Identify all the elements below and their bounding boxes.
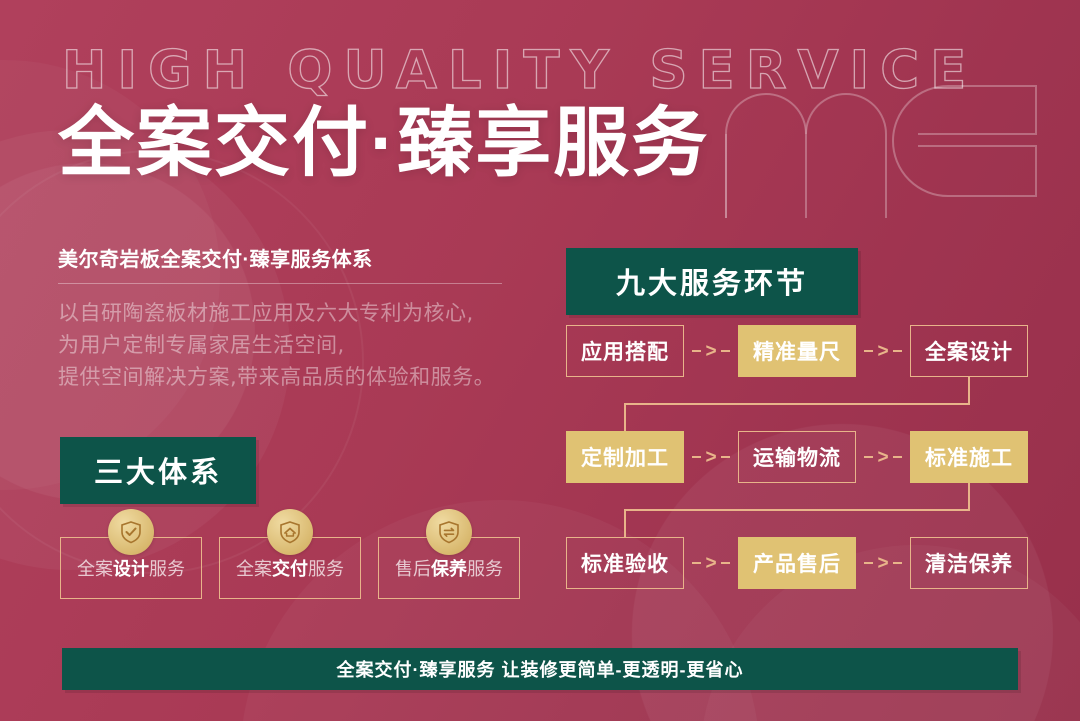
description-line: 以自研陶瓷板材施工应用及六大专利为核心,: [58, 297, 528, 329]
elbow-segment: [624, 403, 970, 405]
flow-connector: >: [684, 342, 738, 361]
flow-connector: >: [684, 448, 738, 467]
badge-suffix: 服务: [149, 559, 185, 580]
shield-home-icon: [267, 509, 313, 555]
badge-strong: 交付: [272, 559, 308, 580]
shield-check-icon: [108, 509, 154, 555]
left-intro-block: 美尔奇岩板全案交付·臻享服务体系 以自研陶瓷板材施工应用及六大专利为核心, 为用…: [58, 243, 528, 393]
flow-row: 应用搭配 > 精准量尺 > 全案设计: [566, 325, 1028, 377]
chevron-right-icon: >: [705, 554, 716, 573]
description-line: 为用户定制专属家居生活空间,: [58, 329, 528, 361]
connector-dash: [893, 350, 902, 352]
connector-dash: [692, 350, 701, 352]
connector-dash: [864, 456, 873, 458]
badge-delivery-service[interactable]: 全案交付服务: [219, 537, 361, 599]
left-description: 以自研陶瓷板材施工应用及六大专利为核心, 为用户定制专属家居生活空间, 提供空间…: [58, 297, 528, 393]
flow-node-7[interactable]: 标准验收: [566, 537, 684, 589]
description-line: 提供空间解决方案,带来高品质的体验和服务。: [58, 361, 528, 393]
connector-dash: [721, 350, 730, 352]
elbow-segment: [968, 483, 970, 510]
flow-connector: >: [856, 554, 910, 573]
chevron-right-icon: >: [705, 342, 716, 361]
flow-elbow-connector: [566, 483, 1028, 537]
chevron-right-icon: >: [877, 342, 888, 361]
flow-node-6[interactable]: 标准施工: [910, 431, 1028, 483]
flow-node-4[interactable]: 定制加工: [566, 431, 684, 483]
elbow-segment: [624, 403, 626, 431]
badge-label: 全案交付服务: [236, 555, 344, 581]
flow-connector: >: [856, 448, 910, 467]
badge-design-service[interactable]: 全案设计服务: [60, 537, 202, 599]
connector-dash: [721, 456, 730, 458]
flow-node-2[interactable]: 精准量尺: [738, 325, 856, 377]
connector-dash: [893, 456, 902, 458]
flow-elbow-connector: [566, 377, 1028, 431]
connector-dash: [864, 350, 873, 352]
badge-label: 全案设计服务: [77, 555, 185, 581]
chevron-right-icon: >: [705, 448, 716, 467]
badge-prefix: 全案: [77, 559, 113, 580]
flow-node-3[interactable]: 全案设计: [910, 325, 1028, 377]
chevron-right-icon: >: [877, 554, 888, 573]
badge-strong: 设计: [113, 559, 149, 580]
elbow-segment: [968, 377, 970, 404]
connector-dash: [692, 562, 701, 564]
badge-label: 售后保养服务: [395, 555, 503, 581]
left-subtitle: 美尔奇岩板全案交付·臻享服务体系: [58, 243, 528, 272]
poster-canvas: HIGH QUALITY SERVICE 全案交付·臻享服务 美尔奇岩板全案交付…: [0, 0, 1080, 721]
header-outline-text: HIGH QUALITY SERVICE: [62, 44, 977, 97]
connector-dash: [893, 562, 902, 564]
footer-slogan-bar: 全案交付·臻享服务 让装修更简单-更透明-更省心: [62, 648, 1018, 690]
connector-dash: [721, 562, 730, 564]
badge-prefix: 全案: [236, 559, 272, 580]
elbow-segment: [624, 509, 626, 537]
flow-node-9[interactable]: 清洁保养: [910, 537, 1028, 589]
page-title: 全案交付·臻享服务: [58, 104, 709, 184]
badge-maintenance-service[interactable]: 售后保养服务: [378, 537, 520, 599]
three-systems-badge-list: 全案设计服务 全案交付服务 售: [60, 537, 520, 599]
nine-steps-heading: 九大服务环节: [566, 248, 858, 315]
flow-node-1[interactable]: 应用搭配: [566, 325, 684, 377]
connector-dash: [692, 456, 701, 458]
elbow-segment: [624, 509, 970, 511]
badge-strong: 保养: [431, 559, 467, 580]
connector-dash: [864, 562, 873, 564]
divider: [58, 283, 502, 284]
flow-connector: >: [856, 342, 910, 361]
flow-row: 标准验收 > 产品售后 > 清洁保养: [566, 537, 1028, 589]
badge-suffix: 服务: [467, 559, 503, 580]
shield-exchange-icon: [426, 509, 472, 555]
chevron-right-icon: >: [877, 448, 888, 467]
flow-node-5[interactable]: 运输物流: [738, 431, 856, 483]
flow-connector: >: [684, 554, 738, 573]
three-systems-heading: 三大体系: [60, 437, 256, 504]
badge-suffix: 服务: [308, 559, 344, 580]
badge-prefix: 售后: [395, 559, 431, 580]
flow-node-8[interactable]: 产品售后: [738, 537, 856, 589]
service-flow-chart: 应用搭配 > 精准量尺 > 全案设计 定制加工 >: [566, 325, 1028, 589]
flow-row: 定制加工 > 运输物流 > 标准施工: [566, 431, 1028, 483]
